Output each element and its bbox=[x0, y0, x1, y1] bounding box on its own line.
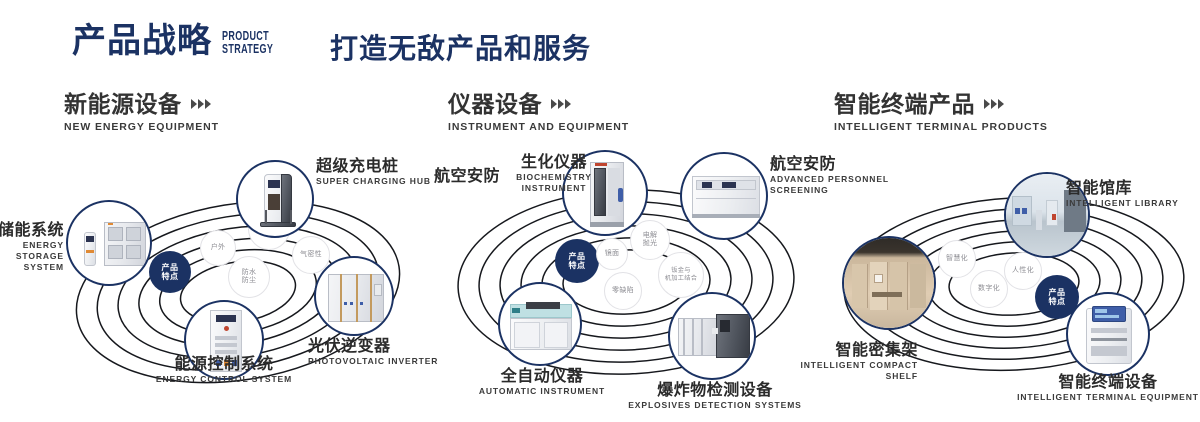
feature-bubble: 数字化 bbox=[970, 270, 1008, 308]
feature-bubble: 户外 bbox=[200, 230, 236, 266]
self-service-kiosk-icon bbox=[1068, 294, 1148, 374]
caption-cn: 智能馆库 bbox=[1066, 180, 1200, 198]
caption-intelligent-terminal-equipment: 智能终端设备 INTELLIGENT TERMINAL EQUIPMENT bbox=[996, 374, 1200, 403]
feature-bubble: 零缺陷 bbox=[604, 272, 642, 310]
caption-en: ENERGY STORAGE SYSTEM bbox=[0, 240, 64, 273]
node-super-charging-hub[interactable] bbox=[236, 160, 314, 238]
section-title-new-energy: 新能源设备 NEW ENERGY EQUIPMENT bbox=[64, 92, 219, 133]
brand-title-cn: 产品战略 bbox=[72, 24, 212, 58]
section-title-cn: 智能终端产品 bbox=[834, 92, 975, 116]
caption-automatic-instrument: 全自动仪器 AUTOMATIC INSTRUMENT bbox=[420, 368, 664, 397]
cluster-new-energy-equipment: 产品 特点 户外 防腐 防锈 防水 防尘 气密性 储能系统 ENERGY STO… bbox=[42, 152, 442, 412]
screening-machine-icon bbox=[682, 154, 766, 238]
caption-cn: 生化仪器 bbox=[466, 154, 642, 172]
feature-core-bubble: 产品 特点 bbox=[556, 240, 598, 282]
node-automatic-instrument[interactable] bbox=[498, 282, 582, 366]
page-headline: 打造无敌产品和服务 bbox=[330, 34, 591, 64]
brand-title-en: PRODUCT STRATEGY bbox=[222, 30, 273, 56]
section-title-intelligent-terminal: 智能终端产品 INTELLIGENT TERMINAL PRODUCTS bbox=[834, 92, 1048, 133]
automatic-analyzer-icon bbox=[500, 284, 580, 364]
section-title-en: NEW ENERGY EQUIPMENT bbox=[64, 121, 219, 133]
section-title-cn: 仪器设备 bbox=[448, 92, 542, 116]
charging-pile-icon bbox=[238, 162, 312, 236]
inverter-cabinet-icon bbox=[316, 258, 392, 334]
section-title-en: INTELLIGENT TERMINAL PRODUCTS bbox=[834, 121, 1048, 133]
energy-storage-cabinet-icon bbox=[68, 202, 150, 284]
feature-bubble: 智慧化 bbox=[938, 240, 976, 278]
caption-intelligent-library: 智能馆库 INTELLIGENT LIBRARY bbox=[1066, 180, 1200, 209]
feature-core-bubble: 产品 特点 bbox=[150, 252, 190, 292]
caption-cn: 储能系统 bbox=[0, 222, 64, 240]
caption-en: BIOCHEMISTRY INSTRUMENT bbox=[466, 172, 642, 194]
section-title-cn: 新能源设备 bbox=[64, 92, 182, 116]
node-advanced-personnel-screening[interactable] bbox=[680, 152, 768, 240]
section-title-instrument: 仪器设备 INSTRUMENT AND EQUIPMENT bbox=[448, 92, 629, 133]
caption-en: INTELLIGENT COMPACT SHELF bbox=[742, 360, 918, 382]
node-intelligent-terminal-equipment[interactable] bbox=[1066, 292, 1150, 376]
caption-cn: 智能终端设备 bbox=[996, 374, 1200, 392]
compact-shelf-photo bbox=[844, 238, 934, 328]
caption-en: ENERGY CONTROL SYSTEM bbox=[84, 374, 364, 385]
caption-cn: 全自动仪器 bbox=[420, 368, 664, 386]
caption-cn: 智能密集架 bbox=[742, 342, 918, 360]
caption-biochemistry-instrument: 生化仪器 BIOCHEMISTRY INSTRUMENT bbox=[466, 154, 642, 194]
caption-en: AUTOMATIC INSTRUMENT bbox=[420, 386, 664, 397]
node-intelligent-compact-shelf[interactable] bbox=[842, 236, 936, 330]
caption-cn: 能源控制系统 bbox=[84, 356, 364, 374]
section-title-en: INSTRUMENT AND EQUIPMENT bbox=[448, 121, 629, 133]
chevron-right-icon bbox=[191, 99, 211, 109]
caption-energy-control-system: 能源控制系统 ENERGY CONTROL SYSTEM bbox=[84, 356, 364, 385]
node-photovoltaic-inverter[interactable] bbox=[314, 256, 394, 336]
feature-bubble: 人性化 bbox=[1004, 252, 1042, 290]
feature-bubble: 防水 防尘 bbox=[228, 256, 270, 298]
node-energy-storage-system[interactable] bbox=[66, 200, 152, 286]
feature-bubble: 钣金与 机加工结合 bbox=[658, 252, 704, 298]
caption-en: EXPLOSIVES DETECTION SYSTEMS bbox=[600, 400, 830, 411]
chevron-right-icon bbox=[551, 99, 571, 109]
feature-bubble: 镜面 bbox=[596, 238, 628, 270]
product-strategy-infographic: 产品战略 PRODUCT STRATEGY 打造无敌产品和服务 新能源设备 NE… bbox=[0, 0, 1200, 422]
brand-header: 产品战略 PRODUCT STRATEGY bbox=[72, 24, 293, 58]
caption-energy-storage-system: 储能系统 ENERGY STORAGE SYSTEM bbox=[0, 222, 64, 273]
cluster-intelligent-terminal-products: 智慧化 数字化 人性化 产品 特点 智能馆库 INTELLIGENT LIBRA… bbox=[818, 152, 1200, 412]
caption-en: INTELLIGENT TERMINAL EQUIPMENT bbox=[996, 392, 1200, 403]
chevron-right-icon bbox=[984, 99, 1004, 109]
caption-intelligent-compact-shelf: 智能密集架 INTELLIGENT COMPACT SHELF bbox=[742, 342, 918, 382]
caption-en: INTELLIGENT LIBRARY bbox=[1066, 198, 1200, 209]
